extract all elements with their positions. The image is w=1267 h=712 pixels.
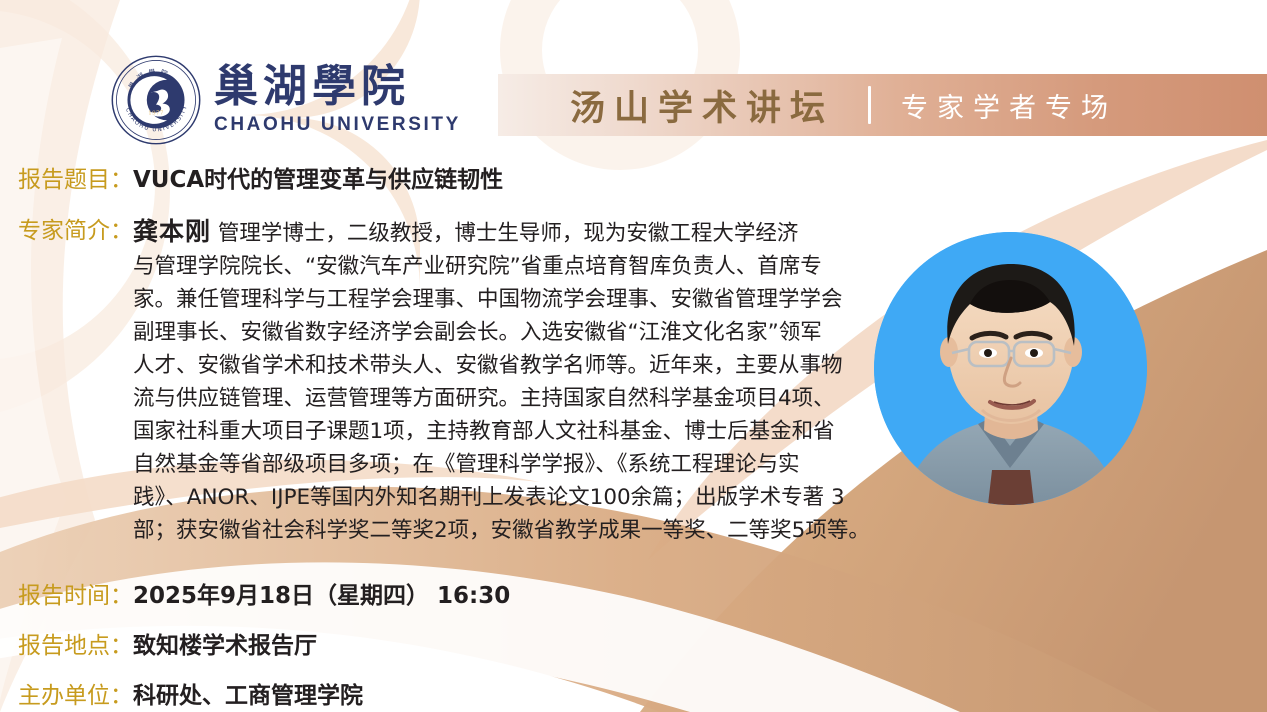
report-place-value: 致知楼学术报告厅 bbox=[133, 626, 317, 660]
speaker-bio-text: 龚本刚 管理学博士，二级教授，博士生导师，现为安徽工程大学经济 与管理学院院长、… bbox=[133, 215, 853, 547]
university-name-cn: 巢湖學院 bbox=[214, 65, 461, 109]
bio-line-4: 人才、安徽省学术和技术带头人、安徽省教学名师等。近年来，主要从事物 bbox=[133, 349, 853, 382]
logo-wordmark: 巢湖學院 CHAOHU UNIVERSITY bbox=[214, 65, 461, 134]
svg-text:1977: 1977 bbox=[148, 110, 164, 116]
report-place-label: 报告地点： bbox=[18, 626, 133, 660]
banner-title: 汤山学术讲坛 bbox=[570, 80, 834, 131]
bio-line-3: 副理事长、安徽省数字经济学会副会长。入选安徽省“江淮文化名家”领军 bbox=[133, 316, 853, 349]
bio-line-2: 家。兼任管理科学与工程学会理事、中国物流学会理事、安徽省管理学学会 bbox=[133, 283, 853, 316]
report-place-row: 报告地点： 致知楼学术报告厅 bbox=[18, 626, 317, 660]
bio-line-0: 管理学博士，二级教授，博士生导师，现为安徽工程大学经济 bbox=[218, 221, 799, 246]
bio-line-6: 国家社科重大项目子课题1项，主持教育部人文社科基金、博士后基金和省 bbox=[133, 415, 853, 448]
bio-line-8: 践》、ANOR、IJPE等国内外知名期刊上发表论文100余篇；出版学术专著 3 bbox=[133, 481, 853, 514]
report-host-value: 科研处、工商管理学院 bbox=[133, 676, 363, 710]
bio-line-1: 与管理学院院长、“安徽汽车产业研究院”省重点培育智库负责人、首席专 bbox=[133, 250, 853, 283]
university-logo: 1977 巢 湖 學 院 CHAOHU UNIVERSITY 巢湖學院 CHAO… bbox=[110, 52, 450, 147]
speaker-portrait bbox=[874, 232, 1147, 505]
chaohu-university-emblem-icon: 1977 巢 湖 學 院 CHAOHU UNIVERSITY bbox=[110, 54, 202, 146]
banner-divider bbox=[868, 86, 871, 124]
bio-line-5: 流与供应链管理、运营管理等方面研究。主持国家自然科学基金项目4项、 bbox=[133, 382, 853, 415]
report-title-label: 报告题目： bbox=[18, 160, 133, 194]
report-title-row: 报告题目： VUCA时代的管理变革与供应链韧性 bbox=[18, 160, 503, 194]
report-time-value: 2025年9月18日（星期四） 16:30 bbox=[133, 576, 510, 610]
speaker-bio-row: 专家简介： 龚本刚 管理学博士，二级教授，博士生导师，现为安徽工程大学经济 与管… bbox=[18, 215, 853, 547]
university-name-en: CHAOHU UNIVERSITY bbox=[214, 115, 461, 134]
speaker-bio-label: 专家简介： bbox=[18, 215, 133, 248]
banner-subtitle: 专家学者专场 bbox=[901, 86, 1117, 125]
report-title-value: VUCA时代的管理变革与供应链韧性 bbox=[133, 160, 503, 194]
report-time-label: 报告时间： bbox=[18, 576, 133, 610]
forum-banner: 汤山学术讲坛 专家学者专场 bbox=[498, 74, 1267, 136]
speaker-name: 龚本刚 bbox=[133, 217, 211, 246]
bio-line-9: 部；获安徽省社会科学奖二等奖2项，安徽省教学成果一等奖、二等奖5项等。 bbox=[133, 514, 853, 547]
bio-line-7: 自然基金等省部级项目多项；在《管理科学学报》、《系统工程理论与实 bbox=[133, 448, 853, 481]
report-host-row: 主办单位： 科研处、工商管理学院 bbox=[18, 676, 363, 710]
report-host-label: 主办单位： bbox=[18, 676, 133, 710]
poster-canvas: 1977 巢 湖 學 院 CHAOHU UNIVERSITY 巢湖學院 CHAO… bbox=[0, 0, 1267, 712]
report-time-row: 报告时间： 2025年9月18日（星期四） 16:30 bbox=[18, 576, 510, 610]
